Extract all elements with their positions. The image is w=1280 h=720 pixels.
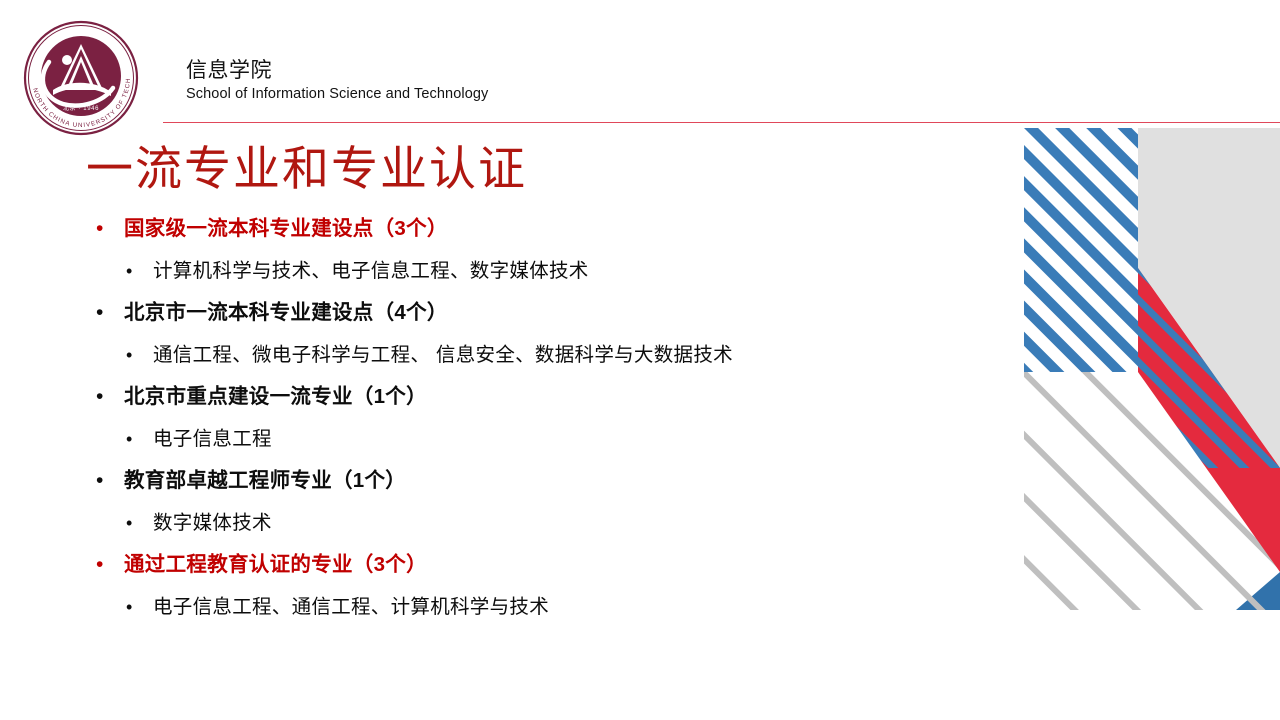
bullet-text: 计算机科学与技术、电子信息工程、数字媒体技术 <box>153 256 589 286</box>
bullet-item-level2: •电子信息工程 <box>88 424 1018 466</box>
page-title: 一流专业和专业认证 <box>86 141 527 199</box>
bullet-text: 北京市一流本科专业建设点（4个） <box>124 298 448 328</box>
bullet-item-level1: •通过工程教育认证的专业（3个） <box>88 550 1018 592</box>
header-divider-rule <box>163 122 1280 123</box>
bullet-marker-icon: • <box>126 592 153 622</box>
bullet-text: 电子信息工程、通信工程、计算机科学与技术 <box>153 592 549 622</box>
bullet-marker-icon: • <box>96 382 124 412</box>
bullet-text: 电子信息工程 <box>153 424 272 454</box>
department-title-block: 信息学院 School of Information Science and T… <box>186 58 886 104</box>
department-name-en: School of Information Science and Techno… <box>186 85 886 104</box>
bullet-marker-icon: • <box>96 466 124 496</box>
diagonal-stripes-graphic <box>1024 128 1280 610</box>
bullet-item-level2: •通信工程、微电子科学与工程、 信息安全、数据科学与大数据技术 <box>88 340 1018 382</box>
bullet-marker-icon: • <box>126 256 153 286</box>
bullet-item-level2: •电子信息工程、通信工程、计算机科学与技术 <box>88 592 1018 634</box>
slide-header: NORTH CHINA UNIVERSITY OF TECHNOLOGY 北京 … <box>0 0 1280 128</box>
bullet-text: 数字媒体技术 <box>153 508 272 538</box>
bullet-marker-icon: • <box>126 508 153 538</box>
bullet-item-level2: •计算机科学与技术、电子信息工程、数字媒体技术 <box>88 256 1018 298</box>
bullet-item-level1: •教育部卓越工程师专业（1个） <box>88 466 1018 508</box>
bullet-text: 国家级一流本科专业建设点（3个） <box>124 214 448 244</box>
department-name-cn: 信息学院 <box>186 58 886 83</box>
bullet-marker-icon: • <box>96 550 124 580</box>
slide-canvas: NORTH CHINA UNIVERSITY OF TECHNOLOGY 北京 … <box>0 0 1280 720</box>
bullet-item-level2: •数字媒体技术 <box>88 508 1018 550</box>
bullet-text: 北京市重点建设一流专业（1个） <box>124 382 427 412</box>
bullet-text: 教育部卓越工程师专业（1个） <box>124 466 406 496</box>
bullet-marker-icon: • <box>96 298 124 328</box>
bullet-item-level1: •北京市重点建设一流专业（1个） <box>88 382 1018 424</box>
bullet-list: •国家级一流本科专业建设点（3个）•计算机科学与技术、电子信息工程、数字媒体技术… <box>88 214 1018 634</box>
bullet-marker-icon: • <box>126 424 153 454</box>
university-seal-logo-icon: NORTH CHINA UNIVERSITY OF TECHNOLOGY 北京 … <box>19 16 174 136</box>
bullet-marker-icon: • <box>126 340 153 370</box>
svg-text:北京 · 1946: 北京 · 1946 <box>63 104 99 112</box>
bullet-text: 通过工程教育认证的专业（3个） <box>124 550 427 580</box>
bullet-text: 通信工程、微电子科学与工程、 信息安全、数据科学与大数据技术 <box>153 340 733 370</box>
bullet-item-level1: •北京市一流本科专业建设点（4个） <box>88 298 1018 340</box>
bullet-marker-icon: • <box>96 214 124 244</box>
bullet-item-level1: •国家级一流本科专业建设点（3个） <box>88 214 1018 256</box>
